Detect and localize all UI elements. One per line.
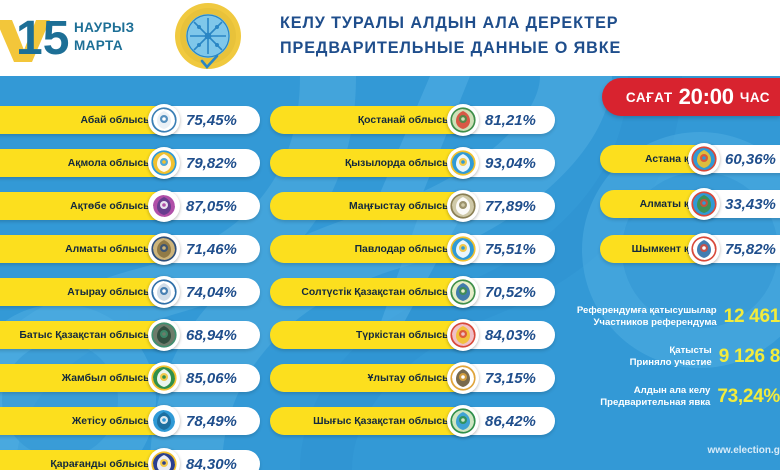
region-label-2: Маңғыстау облысы: [270, 192, 459, 220]
time-banner: САҒАТ 20:00 ЧАС: [602, 78, 780, 116]
region-value-5: 84,03%: [485, 321, 536, 349]
stat-voted-value: 9 126 8: [719, 346, 780, 368]
region-label-7: Жетісу облысы: [0, 407, 160, 435]
header-bar: 15 НАУРЫЗ МАРТА: [0, 0, 780, 76]
region-label-3: Павлодар облысы: [270, 235, 459, 263]
time-banner-prefix: САҒАТ: [626, 90, 673, 105]
table-row: Солтүстік Қазақстан облысы 70,52%: [270, 278, 570, 306]
region-label-4: Солтүстік Қазақстан облысы: [270, 278, 459, 306]
jetisu-region-emblem-icon: [148, 405, 180, 437]
regions-column-1: Абай облысы 75,45% Ақмола облысы 79,82% …: [0, 106, 260, 470]
table-row: Қарағанды облысы 84,30%: [0, 450, 260, 470]
region-label-0: Қостанай облысы: [270, 106, 459, 134]
region-value-5: 68,94%: [186, 321, 237, 349]
region-value-6: 73,15%: [485, 364, 536, 392]
city-value-2: 75,82%: [725, 235, 776, 263]
infographic-page: 15 НАУРЫЗ МАРТА: [0, 0, 780, 470]
region-label-6: Ұлытау облысы: [270, 364, 459, 392]
region-value-8: 84,30%: [186, 450, 237, 470]
stat-turnout-value: 73,24%: [717, 386, 780, 408]
region-value-1: 93,04%: [485, 149, 536, 177]
table-row: Ақмола облысы 79,82%: [0, 149, 260, 177]
city-value-0: 60,36%: [725, 145, 776, 173]
time-banner-suffix: ЧАС: [740, 90, 770, 105]
svg-text:МАРТА: МАРТА: [74, 38, 123, 53]
region-label-7: Шығыс Қазақстан облысы: [270, 407, 459, 435]
west-kazakhstan-region-emblem-icon: [148, 319, 180, 351]
north-kazakhstan-region-emblem-icon: [447, 276, 479, 308]
table-row: Қостанай облысы 81,21%: [270, 106, 570, 134]
almaty-region-emblem-icon: [148, 233, 180, 265]
ulytau-region-emblem-icon: [447, 362, 479, 394]
city-label-0: Астана қ.: [600, 145, 700, 173]
page-title: КЕЛУ ТУРАЛЫ АЛДЫН АЛА ДЕРЕКТЕР ПРЕДВАРИТ…: [280, 11, 760, 61]
region-value-4: 74,04%: [186, 278, 237, 306]
table-row: Астана қ. 60,36%: [600, 145, 780, 173]
table-row: Алматы қ. 33,43%: [600, 190, 780, 218]
table-row: Ақтөбе облысы 87,05%: [0, 192, 260, 220]
table-row: Батыс Қазақстан облысы 68,94%: [0, 321, 260, 349]
table-row: Қызылорда облысы 93,04%: [270, 149, 570, 177]
astana-city-emblem-icon: [688, 143, 720, 175]
almaty-city-emblem-icon: [688, 188, 720, 220]
stat-voted-label-kk: Қатысты: [630, 345, 712, 357]
atyrau-region-emblem-icon: [148, 276, 180, 308]
stat-participants-value: 12 461: [724, 306, 780, 328]
website-url[interactable]: www.election.go: [707, 445, 780, 456]
region-label-0: Абай облысы: [0, 106, 160, 134]
table-row: Абай облысы 75,45%: [0, 106, 260, 134]
region-value-3: 75,51%: [485, 235, 536, 263]
turkistan-region-emblem-icon: [447, 319, 479, 351]
summary-stats: Референдумға қатысушылар Участников рефе…: [556, 305, 780, 425]
stat-voted-label-ru: Приняло участие: [630, 357, 712, 369]
region-label-4: Атырау облысы: [0, 278, 160, 306]
kazakhstan-cec-emblem-icon: [168, 0, 248, 74]
stat-voted: Қатысты Приняло участие 9 126 8: [556, 345, 780, 369]
kyzylorda-region-emblem-icon: [447, 147, 479, 179]
stat-turnout: Алдын ала келу Предварительная явка 73,2…: [556, 385, 780, 409]
date-logo: 15 НАУРЫЗ МАРТА: [0, 4, 146, 66]
stat-turnout-label-ru: Предварительная явка: [600, 397, 710, 409]
stat-turnout-label-kk: Алдын ала келу: [600, 385, 710, 397]
table-row: Атырау облысы 74,04%: [0, 278, 260, 306]
region-label-6: Жамбыл облысы: [0, 364, 160, 392]
pavlodar-region-emblem-icon: [447, 233, 479, 265]
region-label-1: Қызылорда облысы: [270, 149, 459, 177]
region-value-2: 87,05%: [186, 192, 237, 220]
abai-region-emblem-icon: [148, 104, 180, 136]
region-value-3: 71,46%: [186, 235, 237, 263]
shymkent-city-emblem-icon: [688, 233, 720, 265]
region-value-7: 78,49%: [186, 407, 237, 435]
kostanay-region-emblem-icon: [447, 104, 479, 136]
jambyl-region-emblem-icon: [148, 362, 180, 394]
table-row: Алматы облысы 71,46%: [0, 235, 260, 263]
city-label-2: Шымкент қ.: [600, 235, 700, 263]
region-value-4: 70,52%: [485, 278, 536, 306]
table-row: Жетісу облысы 78,49%: [0, 407, 260, 435]
stat-participants-label-ru: Участников референдума: [577, 317, 717, 329]
cities-column-3: Астана қ. 60,36% Алматы қ. 33,43% Шымкен…: [600, 145, 780, 280]
region-label-2: Ақтөбе облысы: [0, 192, 160, 220]
mangystau-region-emblem-icon: [447, 190, 479, 222]
regions-column-2: Қостанай облысы 81,21% Қызылорда облысы …: [270, 106, 570, 450]
region-value-6: 85,06%: [186, 364, 237, 392]
city-label-1: Алматы қ.: [600, 190, 700, 218]
region-label-5: Батыс Қазақстан облысы: [0, 321, 160, 349]
table-row: Ұлытау облысы 73,15%: [270, 364, 570, 392]
table-row: Шығыс Қазақстан облысы 86,42%: [270, 407, 570, 435]
aqtobe-region-emblem-icon: [148, 190, 180, 222]
city-value-1: 33,43%: [725, 190, 776, 218]
stat-participants-label-kk: Референдумға қатысушылар: [577, 305, 717, 317]
east-kazakhstan-region-emblem-icon: [447, 405, 479, 437]
table-row: Павлодар облысы 75,51%: [270, 235, 570, 263]
region-value-7: 86,42%: [485, 407, 536, 435]
region-label-1: Ақмола облысы: [0, 149, 160, 177]
table-row: Түркістан облысы 84,03%: [270, 321, 570, 349]
region-value-2: 77,89%: [485, 192, 536, 220]
aqmola-region-emblem-icon: [148, 147, 180, 179]
region-label-8: Қарағанды облысы: [0, 450, 160, 470]
table-row: Шымкент қ. 75,82%: [600, 235, 780, 263]
region-value-1: 79,82%: [186, 149, 237, 177]
table-row: Жамбыл облысы 85,06%: [0, 364, 260, 392]
svg-text:НАУРЫЗ: НАУРЫЗ: [74, 20, 134, 35]
stat-participants: Референдумға қатысушылар Участников рефе…: [556, 305, 780, 329]
title-ru: ПРЕДВАРИТЕЛЬНЫЕ ДАННЫЕ О ЯВКЕ: [280, 36, 760, 61]
table-row: Маңғыстау облысы 77,89%: [270, 192, 570, 220]
time-banner-time: 20:00: [679, 84, 734, 110]
title-kk: КЕЛУ ТУРАЛЫ АЛДЫН АЛА ДЕРЕКТЕР: [280, 11, 760, 36]
region-value-0: 81,21%: [485, 106, 536, 134]
region-label-3: Алматы облысы: [0, 235, 160, 263]
region-value-0: 75,45%: [186, 106, 237, 134]
region-label-5: Түркістан облысы: [270, 321, 459, 349]
svg-text:15: 15: [16, 12, 69, 65]
